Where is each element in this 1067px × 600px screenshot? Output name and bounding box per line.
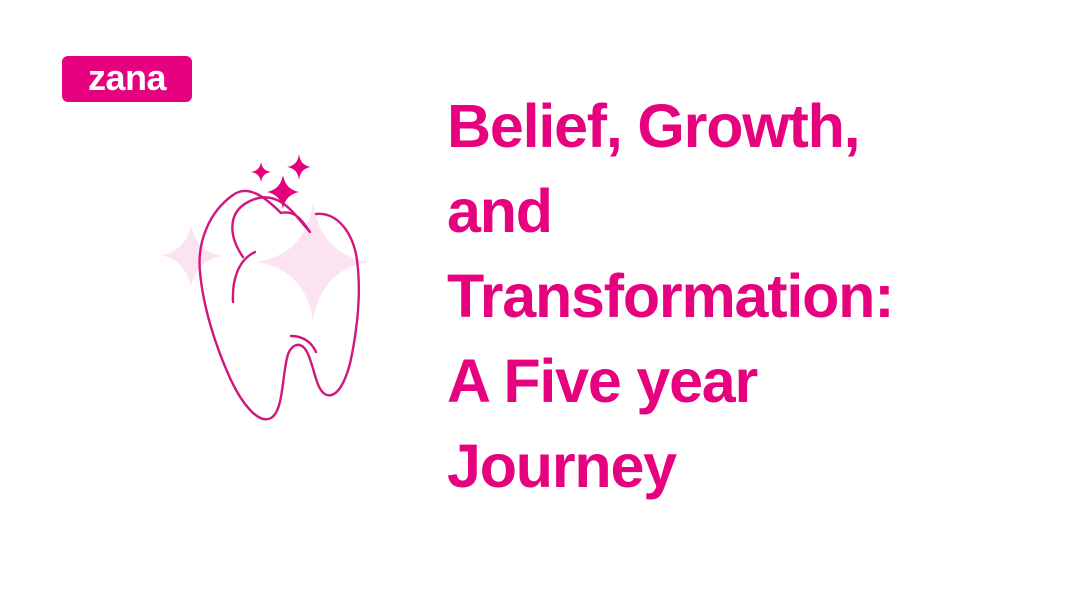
star-left-small-shape (160, 225, 222, 287)
title-line-1: Belief, Growth, (447, 84, 1017, 169)
star-right-large-shape (257, 203, 369, 321)
zana-logo[interactable]: zana (62, 56, 192, 102)
title-line-2: and (447, 169, 1017, 254)
tooth-illustration-svg (105, 140, 405, 440)
title-line-4: A Five year (447, 339, 1017, 424)
title-line-3: Transformation: (447, 254, 1017, 339)
title-line-5: Journey (447, 424, 1017, 509)
sparkle-medium-right-shape (287, 154, 311, 180)
tooth-outline-strokes (200, 191, 359, 419)
logo-wordmark-text: zana (88, 60, 166, 96)
slide-canvas: zana Belief, Growth, and (0, 0, 1067, 600)
tooth-root-notch-arc (291, 336, 316, 352)
tooth-highlight-arc (233, 252, 255, 302)
sparkle-small-left-shape (251, 162, 271, 182)
sparkling-tooth-illustration (105, 140, 405, 440)
page-title: Belief, Growth, and Transformation: A Fi… (447, 84, 1017, 509)
tooth-body-path (200, 191, 359, 419)
